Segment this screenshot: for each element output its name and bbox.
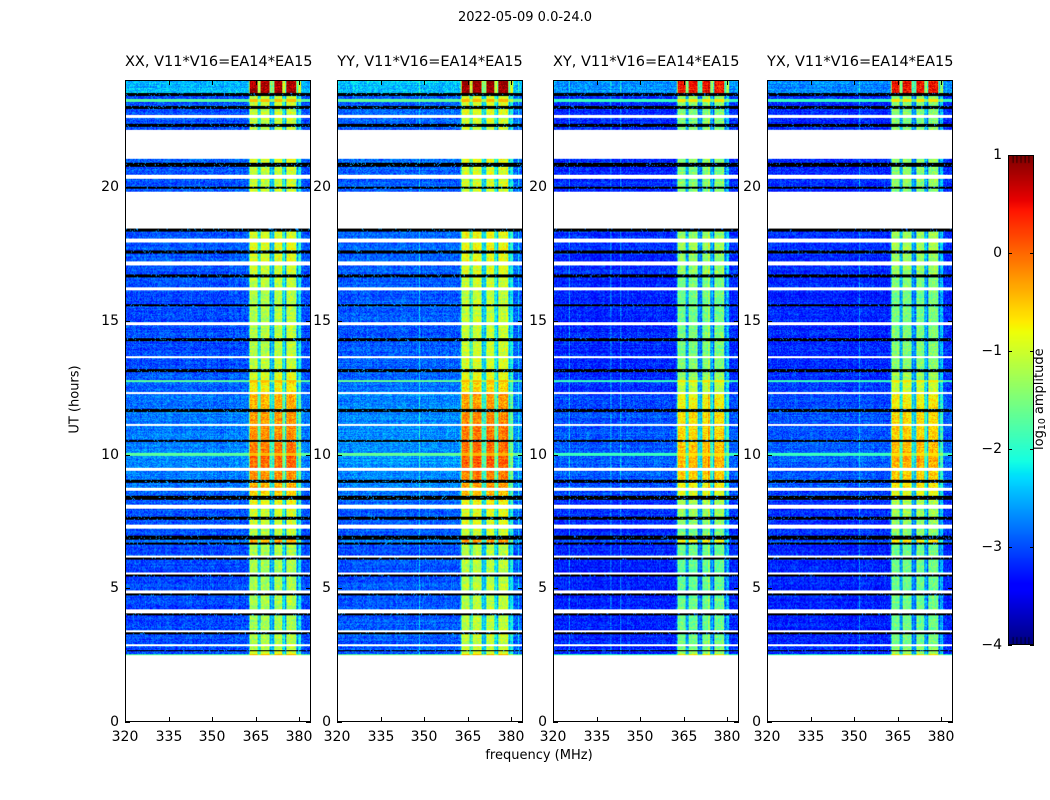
x-tick-mark <box>684 717 685 722</box>
waterfall-panel-yy[interactable] <box>337 80 523 722</box>
x-tick-label: 350 <box>411 729 438 745</box>
colorbar-tick-label: −2 <box>972 441 1002 457</box>
x-tick-label: 350 <box>199 729 226 745</box>
y-tick-label: 15 <box>737 313 761 329</box>
x-tick-label: 320 <box>324 729 351 745</box>
y-tick-label: 15 <box>307 313 331 329</box>
colorbar-tick-label: −1 <box>972 343 1002 359</box>
y-tick-mark-right <box>948 588 953 589</box>
x-tick-label: 365 <box>455 729 482 745</box>
x-tick-mark-top <box>468 80 469 85</box>
x-tick-mark-top <box>337 80 338 85</box>
waterfall-image-xy <box>554 81 738 721</box>
x-tick-mark <box>511 717 512 722</box>
y-tick-mark <box>125 187 130 188</box>
figure-suptitle: 2022-05-09 0.0-24.0 <box>0 10 1050 25</box>
x-tick-mark-top <box>125 80 126 85</box>
colorbar-tick-mark <box>1008 449 1012 450</box>
y-tick-mark-right <box>948 455 953 456</box>
x-tick-mark <box>424 717 425 722</box>
y-tick-mark <box>767 455 772 456</box>
colorbar-tick-mark <box>1008 155 1012 156</box>
y-tick-mark <box>553 187 558 188</box>
x-tick-mark-top <box>727 80 728 85</box>
x-tick-mark <box>299 717 300 722</box>
y-tick-mark <box>553 588 558 589</box>
x-tick-mark <box>212 717 213 722</box>
x-tick-mark <box>381 717 382 722</box>
colorbar-tick-mark <box>1008 547 1012 548</box>
x-tick-label: 320 <box>754 729 781 745</box>
colorbar-tick-mark <box>1008 351 1012 352</box>
x-tick-label: 335 <box>368 729 395 745</box>
panel-title-xx: XX, V11*V16=EA14*EA15 <box>125 54 311 70</box>
panel-title-xy: XY, V11*V16=EA14*EA15 <box>553 54 739 70</box>
y-tick-mark <box>125 321 130 322</box>
x-tick-mark-top <box>640 80 641 85</box>
y-tick-mark-right <box>948 321 953 322</box>
y-tick-label: 5 <box>307 580 331 596</box>
colorbar-tick-mark-right <box>1030 155 1034 156</box>
x-tick-label: 335 <box>798 729 825 745</box>
waterfall-image-yy <box>338 81 522 721</box>
x-tick-label: 365 <box>243 729 270 745</box>
x-tick-mark-top <box>941 80 942 85</box>
y-tick-label: 15 <box>95 313 119 329</box>
y-tick-label: 20 <box>737 179 761 195</box>
y-tick-mark <box>553 455 558 456</box>
y-tick-label: 0 <box>307 714 331 730</box>
y-tick-mark <box>337 455 342 456</box>
x-tick-mark <box>811 717 812 722</box>
x-tick-label: 320 <box>112 729 139 745</box>
x-tick-label: 380 <box>928 729 955 745</box>
y-tick-mark <box>553 722 558 723</box>
y-tick-label: 10 <box>307 447 331 463</box>
y-tick-mark <box>767 588 772 589</box>
x-tick-label: 335 <box>156 729 183 745</box>
x-tick-mark <box>941 717 942 722</box>
x-tick-mark <box>898 717 899 722</box>
x-axis-label: frequency (MHz) <box>125 748 953 763</box>
x-tick-mark-top <box>811 80 812 85</box>
x-tick-mark <box>468 717 469 722</box>
x-tick-label: 380 <box>286 729 313 745</box>
x-tick-label: 365 <box>671 729 698 745</box>
x-tick-label: 365 <box>885 729 912 745</box>
waterfall-image-xx <box>126 81 310 721</box>
x-tick-mark <box>854 717 855 722</box>
x-tick-label: 350 <box>627 729 654 745</box>
colorbar-gradient <box>1009 156 1033 644</box>
x-tick-mark-top <box>597 80 598 85</box>
colorbar-tick-mark <box>1008 253 1012 254</box>
y-tick-label: 5 <box>523 580 547 596</box>
x-tick-mark-top <box>854 80 855 85</box>
x-tick-mark-top <box>256 80 257 85</box>
y-tick-label: 20 <box>95 179 119 195</box>
y-tick-label: 20 <box>307 179 331 195</box>
y-tick-mark <box>337 722 342 723</box>
y-tick-mark <box>767 187 772 188</box>
y-tick-mark <box>337 588 342 589</box>
y-tick-label: 0 <box>95 714 119 730</box>
y-tick-mark <box>767 722 772 723</box>
colorbar-label: log10 amplitude <box>1032 319 1048 479</box>
x-tick-mark-top <box>898 80 899 85</box>
waterfall-image-yx <box>768 81 952 721</box>
colorbar-tick-mark-right <box>1030 547 1034 548</box>
x-tick-mark <box>597 717 598 722</box>
y-tick-mark <box>125 588 130 589</box>
x-tick-mark <box>727 717 728 722</box>
panel-title-yy: YY, V11*V16=EA14*EA15 <box>337 54 523 70</box>
y-tick-mark <box>125 722 130 723</box>
x-tick-label: 380 <box>714 729 741 745</box>
x-tick-mark-top <box>511 80 512 85</box>
colorbar-tick-mark <box>1008 645 1012 646</box>
y-tick-mark <box>125 455 130 456</box>
x-tick-mark-top <box>212 80 213 85</box>
y-tick-mark <box>553 321 558 322</box>
colorbar[interactable] <box>1008 155 1034 645</box>
waterfall-panel-yx[interactable] <box>767 80 953 722</box>
waterfall-panel-xx[interactable] <box>125 80 311 722</box>
y-axis-label: UT (hours) <box>68 340 83 460</box>
figure-canvas: 2022-05-09 0.0-24.0 XX, V11*V16=EA14*EA1… <box>0 0 1050 800</box>
x-tick-mark-top <box>169 80 170 85</box>
y-tick-label: 0 <box>737 714 761 730</box>
x-tick-mark-top <box>767 80 768 85</box>
x-tick-mark <box>169 717 170 722</box>
x-tick-mark-top <box>381 80 382 85</box>
panel-title-yx: YX, V11*V16=EA14*EA15 <box>767 54 953 70</box>
colorbar-tick-mark-right <box>1030 253 1034 254</box>
y-tick-label: 15 <box>523 313 547 329</box>
colorbar-tick-label: 1 <box>972 147 1002 163</box>
y-tick-label: 20 <box>523 179 547 195</box>
y-tick-mark <box>337 187 342 188</box>
y-tick-mark <box>767 321 772 322</box>
x-tick-mark-top <box>684 80 685 85</box>
y-tick-mark-right <box>948 187 953 188</box>
y-tick-label: 10 <box>95 447 119 463</box>
y-tick-mark-right <box>948 722 953 723</box>
x-tick-mark-top <box>553 80 554 85</box>
x-tick-label: 350 <box>841 729 868 745</box>
x-tick-mark-top <box>424 80 425 85</box>
y-tick-label: 5 <box>737 580 761 596</box>
x-tick-label: 335 <box>584 729 611 745</box>
y-tick-label: 5 <box>95 580 119 596</box>
colorbar-tick-label: −4 <box>972 637 1002 653</box>
y-tick-mark <box>337 321 342 322</box>
colorbar-tick-label: −3 <box>972 539 1002 555</box>
x-tick-mark <box>256 717 257 722</box>
colorbar-tick-mark-right <box>1030 645 1034 646</box>
waterfall-panel-xy[interactable] <box>553 80 739 722</box>
x-tick-label: 320 <box>540 729 567 745</box>
x-tick-mark-top <box>299 80 300 85</box>
y-tick-label: 0 <box>523 714 547 730</box>
x-tick-label: 380 <box>498 729 525 745</box>
x-tick-mark <box>640 717 641 722</box>
y-tick-label: 10 <box>737 447 761 463</box>
colorbar-tick-label: 0 <box>972 245 1002 261</box>
y-tick-label: 10 <box>523 447 547 463</box>
